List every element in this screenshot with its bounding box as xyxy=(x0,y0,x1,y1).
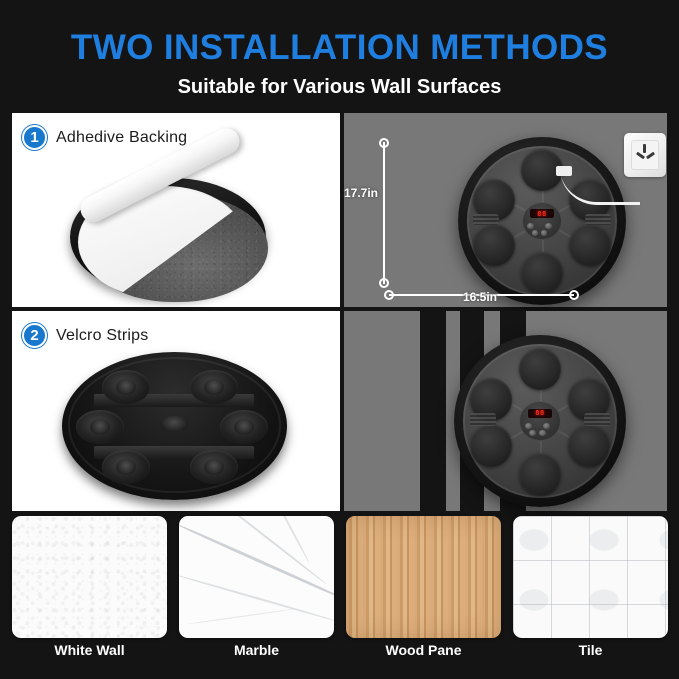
wall-outlet xyxy=(624,133,666,177)
swatch-label-marble: Marble xyxy=(179,642,334,658)
swatch-label-white-wall: White Wall xyxy=(12,642,167,658)
dimension-cap-bottom xyxy=(379,278,389,288)
control-buttons[interactable] xyxy=(524,423,555,437)
device-back-body xyxy=(62,352,287,500)
outlet-slot xyxy=(643,144,646,153)
control-panel[interactable]: 88 xyxy=(519,401,560,441)
back-socket xyxy=(76,410,124,444)
surface-swatches: White Wall Marble Wood Pane Tile xyxy=(12,516,667,640)
swatch-marble xyxy=(179,516,334,638)
back-center-port xyxy=(160,416,188,432)
step-2-label: Velcro Strips xyxy=(56,327,148,345)
swatch-label-tile: Tile xyxy=(513,642,668,658)
device-front-top: 88 xyxy=(458,137,626,305)
step-2-badge: 2 xyxy=(22,323,47,348)
tile-texture xyxy=(513,516,668,638)
dimension-height-line xyxy=(377,138,391,288)
control-button[interactable] xyxy=(541,230,548,236)
dimension-cap-right xyxy=(569,290,579,300)
swatch-tile xyxy=(513,516,668,638)
control-button[interactable] xyxy=(529,430,536,436)
target-pad xyxy=(569,224,611,266)
control-panel[interactable]: 88 xyxy=(522,202,562,241)
dimension-height-label: 17.7in xyxy=(326,186,378,200)
control-button[interactable] xyxy=(543,423,550,429)
target-pad xyxy=(473,224,515,266)
target-pad xyxy=(519,453,562,496)
control-button[interactable] xyxy=(545,223,552,229)
page-subtitle: Suitable for Various Wall Surfaces xyxy=(0,74,679,100)
product-infographic: TWO INSTALLATION METHODS Suitable for Va… xyxy=(0,0,679,679)
wood-texture xyxy=(346,516,501,638)
device-front-bottom: 88 xyxy=(454,335,626,507)
control-button[interactable] xyxy=(527,223,534,229)
dimension-cap-top xyxy=(379,138,389,148)
swatch-white-wall xyxy=(12,516,167,638)
back-socket xyxy=(190,450,238,484)
outlet-slot xyxy=(646,152,655,160)
velcro-back-photo xyxy=(62,352,287,502)
step-1-badge: 1 xyxy=(22,125,47,150)
white-wall-texture xyxy=(12,516,167,638)
dimension-width-label: 16.5in xyxy=(420,290,540,304)
control-buttons[interactable] xyxy=(527,223,558,237)
control-button[interactable] xyxy=(539,430,546,436)
target-pad xyxy=(568,424,611,467)
cable-connector xyxy=(556,166,572,176)
back-socket xyxy=(102,370,150,404)
back-socket xyxy=(220,410,268,444)
adhesive-disc-photo xyxy=(62,158,272,308)
wall-velcro-strip xyxy=(420,311,446,511)
swatch-label-wood-pane: Wood Pane xyxy=(346,642,501,658)
step-1-label: Adhedive Backing xyxy=(56,129,187,147)
page-title: TWO INSTALLATION METHODS xyxy=(0,27,679,69)
device-face: 88 xyxy=(463,344,616,497)
step-1: 1 Adhedive Backing xyxy=(22,125,187,150)
target-pad xyxy=(470,424,513,467)
led-display: 88 xyxy=(530,209,553,218)
back-socket xyxy=(190,370,238,404)
outlet-face xyxy=(631,140,659,170)
control-button[interactable] xyxy=(532,230,539,236)
led-display: 88 xyxy=(528,409,552,419)
step-2: 2 Velcro Strips xyxy=(22,323,148,348)
swatch-wood-pane xyxy=(346,516,501,638)
control-button[interactable] xyxy=(525,423,532,429)
dimension-cap-left xyxy=(384,290,394,300)
marble-texture xyxy=(179,516,334,638)
back-socket xyxy=(102,450,150,484)
header: TWO INSTALLATION METHODS Suitable for Va… xyxy=(0,0,679,113)
